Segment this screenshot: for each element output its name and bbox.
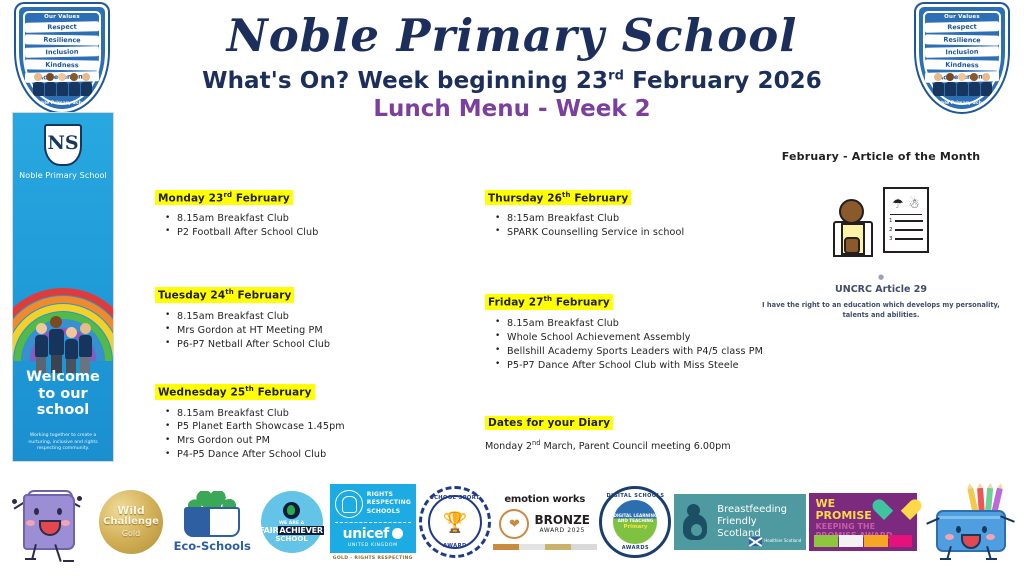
- spacer: [485, 382, 775, 411]
- unicef-emblem-icon: [335, 490, 363, 518]
- emotion-works-title: emotion works: [493, 494, 597, 505]
- events-column-left: Monday 23rd February 8.15am Breakfast Cl…: [155, 186, 485, 472]
- crest-pupils-illustration: [925, 68, 999, 96]
- logo-pencil-case-mascot: [921, 476, 1024, 568]
- list-item: 8:15am Breakfast Club: [507, 212, 775, 226]
- globe-icon: [392, 528, 403, 539]
- row-number: 2: [889, 227, 893, 233]
- trophy-icon: 🏆: [428, 495, 482, 549]
- day-title-monday: Monday 23rd February: [155, 190, 293, 206]
- pencil-case-mascot-icon: [926, 480, 1018, 564]
- bff-words: Breastfeeding Friendly Scotland: [717, 504, 787, 540]
- whats-on-suffix: February 2026: [624, 68, 822, 94]
- person-head-icon: [839, 199, 864, 224]
- mother-and-baby-icon: [681, 504, 711, 540]
- day-title-wednesday: Wednesday 25th February: [155, 384, 315, 400]
- banner-pupils-illustration: [13, 287, 113, 373]
- bronze-block: BRONZE AWARD 2025: [534, 514, 590, 534]
- banner-school-name: Noble Primary School: [13, 171, 113, 180]
- whats-on-ordinal: rd: [608, 69, 624, 84]
- partner-logos-strip: [814, 535, 912, 547]
- banner-monogram-logo: NS: [44, 124, 82, 166]
- ssa-top-text: SCHOOL SPORT: [422, 495, 488, 501]
- crest-shield: Our Values Respect Resilience Inclusion …: [16, 4, 108, 112]
- fair-line-2b: ACHIEVER: [278, 526, 323, 535]
- day-month: February: [234, 290, 292, 302]
- diary-entry-suffix: March, Parent Council meeting 6.00pm: [540, 442, 730, 453]
- day-name: Tuesday 24: [158, 290, 225, 302]
- events-column-right: Thursday 26th February 8:15am Breakfast …: [485, 186, 775, 472]
- diary-entry: Monday 2nd March, Parent Council meeting…: [485, 439, 775, 452]
- list-item: 8.15am Breakfast Club: [177, 212, 485, 226]
- logo-eco-schools: Eco-Schools: [170, 476, 255, 568]
- uncrc-article-text: I have the right to an education which d…: [759, 300, 1003, 320]
- whats-on-subtitle: What's On? Week beginning 23rd February …: [120, 68, 904, 94]
- list-item: 8.15am Breakfast Club: [177, 310, 485, 324]
- weekly-events: Monday 23rd February 8.15am Breakfast Cl…: [155, 186, 775, 472]
- fairtrade-badge-icon: WE ARE A FAIRACHIEVER SCHOOL: [261, 491, 323, 553]
- event-list-tuesday: 8.15am Breakfast Club Mrs Gordon at HT M…: [155, 310, 485, 352]
- article-of-the-month: February - Article of the Month ☂☃ 1 2 3…: [745, 150, 1017, 320]
- day-block-tuesday: Tuesday 24th February 8.15am Breakfast C…: [155, 284, 485, 352]
- event-list-monday: 8.15am Breakfast Club P2 Football After …: [155, 212, 485, 240]
- day-ordinal: th: [245, 385, 254, 393]
- crest-our-values-label: Our Values: [919, 14, 1005, 20]
- day-name: Friday 27: [488, 297, 544, 309]
- divider: [335, 522, 411, 523]
- day-name: Thursday 26: [488, 192, 562, 204]
- day-block-thursday: Thursday 26th February 8:15am Breakfast …: [485, 186, 775, 240]
- rrs-words: RIGHTS RESPECTING SCHOOLS: [367, 491, 411, 515]
- event-list-wednesday: 8.15am Breakfast Club P5 Planet Earth Sh…: [155, 407, 485, 463]
- logo-we-promise-award: WE PROMISE KEEPING THE PROMISE AWARD: [806, 476, 920, 568]
- day-month: February: [552, 297, 610, 309]
- crest-value-resilience: Resilience: [25, 34, 99, 45]
- diary-title: Dates for your Diary: [485, 416, 613, 430]
- day-block-friday: Friday 27th February 8.15am Breakfast Cl…: [485, 291, 775, 373]
- wild-line-3: Gold: [122, 530, 140, 538]
- book-mascot-icon: [7, 480, 85, 564]
- eco-schools-label: Eco-Schools: [171, 539, 253, 553]
- logo-breastfeeding-friendly-scotland: Breastfeeding Friendly Scotland Healthie…: [674, 476, 806, 568]
- crest-school-name: Noble Primary School: [919, 101, 1005, 106]
- day-ordinal: th: [225, 288, 234, 296]
- unicef-brand-text: unicef: [343, 526, 389, 542]
- day-ordinal: th: [562, 191, 571, 199]
- school-welcome-banner: NS Noble Primary School: [12, 112, 114, 462]
- day-name: Wednesday 25: [158, 387, 245, 399]
- eco-tree-graphic: [171, 491, 253, 537]
- logo-fairtrade-achiever-school: WE ARE A FAIRACHIEVER SCHOOL: [255, 476, 329, 568]
- lunch-menu-subtitle: Lunch Menu - Week 2: [120, 96, 904, 122]
- page-title: Noble Primary School: [120, 8, 904, 64]
- ssa-bottom-text: AWARD: [422, 543, 488, 549]
- crest-shield: Our Values Respect Resilience Inclusion …: [916, 4, 1008, 112]
- worksheet-row: 2: [889, 227, 923, 233]
- diary-entry-prefix: Monday 2: [485, 442, 532, 453]
- whats-on-prefix: What's On? Week beginning 23: [202, 68, 608, 94]
- list-item: P4-P5 Dance After School Club: [177, 448, 485, 462]
- heart-icon: [884, 498, 910, 522]
- row-number: 1: [889, 218, 893, 224]
- dsa-top-text: DIGITAL SCHOOLS: [602, 493, 668, 499]
- day-title-friday: Friday 27th February: [485, 294, 613, 310]
- heart-icon: ❤: [499, 509, 529, 539]
- uncrc-article-code: UNCRC Article 29: [745, 284, 1017, 295]
- list-item: P6-P7 Netball After School Club: [177, 338, 485, 352]
- unicef-wordmark: unicef: [335, 526, 411, 542]
- day-month: February: [254, 387, 312, 399]
- list-item: P2 Football After School Club: [177, 226, 485, 240]
- logo-reading-book-mascot: [0, 476, 92, 568]
- person-hand: [844, 237, 860, 254]
- crest-value-respect: Respect: [925, 21, 999, 33]
- logo-emotion-works-bronze: emotion works ❤ BRONZE AWARD 2025: [493, 476, 597, 568]
- fair-line-2: FAIRACHIEVER: [259, 526, 324, 535]
- crest-value-inclusion: Inclusion: [25, 46, 99, 58]
- eco-schools-icon: Eco-Schools: [171, 491, 253, 553]
- dsa-bottom-text: AWARDS: [602, 545, 668, 551]
- pupil-figure: [35, 323, 48, 373]
- worksheet-rows: 1 2 3: [889, 218, 923, 245]
- pupil-figure: [49, 316, 64, 373]
- logo-unicef-rights-respecting-schools: RIGHTS RESPECTING SCHOOLS unicef UNITED …: [328, 476, 417, 568]
- crest-our-values-label: Our Values: [19, 14, 105, 20]
- banner-strapline: Working together to create a nurturing, …: [18, 433, 108, 453]
- dsa-core: DIGITAL LEARNING AND TEACHING Primary: [613, 500, 657, 544]
- welcome-line-2: to our school: [13, 386, 113, 419]
- worksheet-row: 3: [889, 236, 923, 242]
- event-list-thursday: 8:15am Breakfast Club SPARK Counselling …: [485, 212, 775, 240]
- crest-value-inclusion: Inclusion: [925, 46, 999, 58]
- day-title-thursday: Thursday 26th February: [485, 190, 631, 206]
- logo-wild-challenge-gold: Wild Challenge Gold: [92, 476, 170, 568]
- emotion-works-row: ❤ BRONZE AWARD 2025: [493, 509, 597, 539]
- day-name: Monday 23: [158, 192, 223, 204]
- fairtrade-mark-icon: [283, 502, 300, 519]
- list-item: Bellshill Academy Sports Leaders with P4…: [507, 345, 775, 359]
- worksheet-icon: ☂☃ 1 2 3: [883, 187, 929, 253]
- day-ordinal: th: [544, 295, 553, 303]
- day-title-tuesday: Tuesday 24th February: [155, 287, 294, 303]
- saltire-icon: [749, 537, 762, 546]
- article-heading: February - Article of the Month: [745, 150, 1017, 163]
- list-item: SPARK Counselling Service in school: [507, 226, 775, 240]
- healthier-scotland-mark: Healthier Scotland: [749, 537, 801, 546]
- list-item: 8.15am Breakfast Club: [507, 317, 775, 331]
- day-block-monday: Monday 23rd February 8.15am Breakfast Cl…: [155, 186, 485, 240]
- worksheet-figures: ☂☃: [890, 194, 922, 215]
- school-crest-left: Our Values Respect Resilience Inclusion …: [16, 4, 108, 112]
- unicef-rrs-icon: RIGHTS RESPECTING SCHOOLS unicef UNITED …: [330, 484, 416, 561]
- list-item: Mrs Gordon at HT Meeting PM: [177, 324, 485, 338]
- event-list-friday: 8.15am Breakfast Club Whole School Achie…: [485, 317, 775, 373]
- decorative-dot-icon: ●: [745, 273, 1017, 281]
- bff-partner-text: Healthier Scotland: [764, 539, 801, 544]
- day-month: February: [571, 192, 629, 204]
- breastfeeding-friendly-icon: Breastfeeding Friendly Scotland Healthie…: [674, 494, 806, 550]
- we-promise-icon: WE PROMISE KEEPING THE PROMISE AWARD: [809, 493, 917, 551]
- logo-digital-schools-award: DIGITAL SCHOOLS DIGITAL LEARNING AND TEA…: [597, 476, 675, 568]
- dsa-tier-text: Primary: [624, 524, 648, 531]
- school-sport-award-icon: SCHOOL SPORT 🏆 AWARD: [419, 486, 491, 558]
- banner-welcome-text: Welcome to our school: [13, 369, 113, 419]
- crest-school-name: Noble Primary School: [19, 101, 105, 106]
- list-item: P5 Planet Earth Showcase 1.45pm: [177, 420, 485, 434]
- row-number: 3: [889, 236, 893, 242]
- emotion-works-colour-bar: [493, 544, 597, 550]
- day-ordinal: rd: [223, 191, 232, 199]
- unicef-rrs-panel: RIGHTS RESPECTING SCHOOLS unicef UNITED …: [330, 484, 416, 553]
- day-block-wednesday: Wednesday 25th February 8.15am Breakfast…: [155, 381, 485, 463]
- spacer: [485, 250, 775, 291]
- crest-pupils-illustration: [25, 68, 99, 96]
- bronze-award-year: AWARD 2025: [534, 527, 590, 534]
- wild-line-2: Challenge: [103, 517, 159, 528]
- wild-challenge-medal-icon: Wild Challenge Gold: [99, 490, 163, 554]
- list-item: Mrs Gordon out PM: [177, 434, 485, 448]
- welcome-line-1: Welcome: [13, 369, 113, 386]
- school-crest-right: Our Values Respect Resilience Inclusion …: [916, 4, 1008, 112]
- crest-value-respect: Respect: [25, 21, 99, 33]
- fair-line-2a: FAIR: [259, 526, 278, 535]
- pupil-figure: [65, 327, 78, 373]
- digital-schools-award-icon: DIGITAL SCHOOLS DIGITAL LEARNING AND TEA…: [599, 486, 671, 558]
- bronze-level: BRONZE: [534, 514, 590, 527]
- uncrc-education-illustration: ☂☃ 1 2 3: [831, 185, 931, 263]
- fair-line-3: SCHOOL: [275, 535, 307, 543]
- rrs-caption: GOLD - RIGHTS RESPECTING: [330, 556, 416, 561]
- worksheet-row: 1: [889, 218, 923, 224]
- spacer: [155, 250, 485, 284]
- unicef-country-text: UNITED KINGDOM: [335, 543, 411, 548]
- emotion-works-icon: emotion works ❤ BRONZE AWARD 2025: [493, 494, 597, 550]
- dates-for-your-diary: Dates for your Diary Monday 2nd March, P…: [485, 411, 775, 452]
- pupil-figure: [79, 323, 92, 373]
- bff-line-1: Breastfeeding: [717, 504, 787, 516]
- crest-value-resilience: Resilience: [925, 34, 999, 45]
- unicef-rrs-top: RIGHTS RESPECTING SCHOOLS: [335, 490, 411, 518]
- list-item: Whole School Achievement Assembly: [507, 331, 775, 345]
- spacer: [155, 362, 485, 381]
- list-item: P5-P7 Dance After School Club with Miss …: [507, 359, 775, 373]
- accreditation-logo-strip: Wild Challenge Gold Eco-Schools WE ARE A…: [0, 474, 1024, 570]
- list-item: 8.15am Breakfast Club: [177, 407, 485, 421]
- day-month: February: [232, 192, 290, 204]
- newsletter-header: Noble Primary School What's On? Week beg…: [120, 8, 904, 122]
- bff-line-2: Friendly: [717, 516, 787, 528]
- logo-school-sport-award: SCHOOL SPORT 🏆 AWARD: [417, 476, 493, 568]
- dsa-core-text: DIGITAL LEARNING AND TEACHING: [613, 513, 657, 524]
